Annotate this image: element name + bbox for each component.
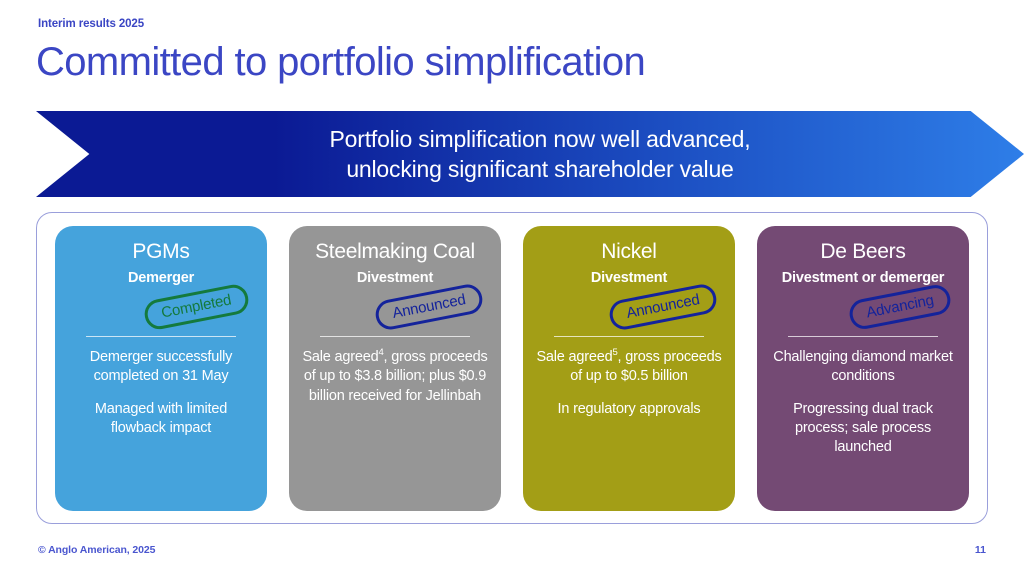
footer-page-number: 11 [975,544,986,556]
card-body: Sale agreed5, gross proceeds of up to $0… [535,348,723,418]
divider [320,336,470,337]
card-subtitle: Demerger [128,270,194,287]
card-subtitle: Divestment [357,270,433,287]
card-steelmaking-coal[interactable]: Steelmaking Coal Divestment Announced Sa… [289,226,501,511]
card-de-beers[interactable]: De Beers Divestment or demerger Advancin… [757,226,969,511]
stamp-zone: Completed [67,286,255,332]
cards-container: PGMs Demerger Completed Demerger success… [36,212,988,524]
banner-line-2: unlocking significant shareholder value [346,156,733,182]
card-title: Steelmaking Coal [315,240,475,263]
card-body: Demerger successfully completed on 31 Ma… [67,348,255,438]
status-badge: Announced [373,282,485,332]
card-body: Challenging diamond market conditions Pr… [769,348,957,457]
divider [86,336,236,337]
card-body-paragraph: Managed with limited flowback impact [67,400,255,438]
card-body-paragraph: Sale agreed5, gross proceeds of up to $0… [535,348,723,386]
footer-copyright: © Anglo American, 2025 [38,544,155,556]
status-badge: Completed [142,283,251,332]
banner-line-1: Portfolio simplification now well advanc… [330,126,751,152]
stamp-zone: Announced [301,286,489,332]
page-title: Committed to portfolio simplification [36,40,645,84]
card-subtitle: Divestment [591,270,667,287]
divider [554,336,704,337]
card-body-paragraph: In regulatory approvals [535,400,723,419]
stamp-zone: Advancing [769,286,957,332]
card-body-paragraph: Sale agreed4, gross proceeds of up to $3… [301,348,489,405]
card-subtitle: Divestment or demerger [782,270,944,287]
card-body-paragraph: Challenging diamond market conditions [769,348,957,386]
card-nickel[interactable]: Nickel Divestment Announced Sale agreed5… [523,226,735,511]
card-body-paragraph: Progressing dual track process; sale pro… [769,400,957,457]
status-badge: Announced [607,282,719,332]
card-body-paragraph: Demerger successfully completed on 31 Ma… [67,348,255,386]
divider [788,336,938,337]
card-body: Sale agreed4, gross proceeds of up to $3… [301,348,489,405]
stamp-zone: Announced [535,286,723,332]
eyebrow-label: Interim results 2025 [38,18,144,30]
card-title: De Beers [820,240,905,263]
card-title: Nickel [601,240,656,263]
banner-text: Portfolio simplification now well advanc… [310,124,751,185]
headline-banner: Portfolio simplification now well advanc… [36,111,1024,197]
status-badge: Advancing [847,283,953,332]
card-pgms[interactable]: PGMs Demerger Completed Demerger success… [55,226,267,511]
card-title: PGMs [132,240,189,263]
